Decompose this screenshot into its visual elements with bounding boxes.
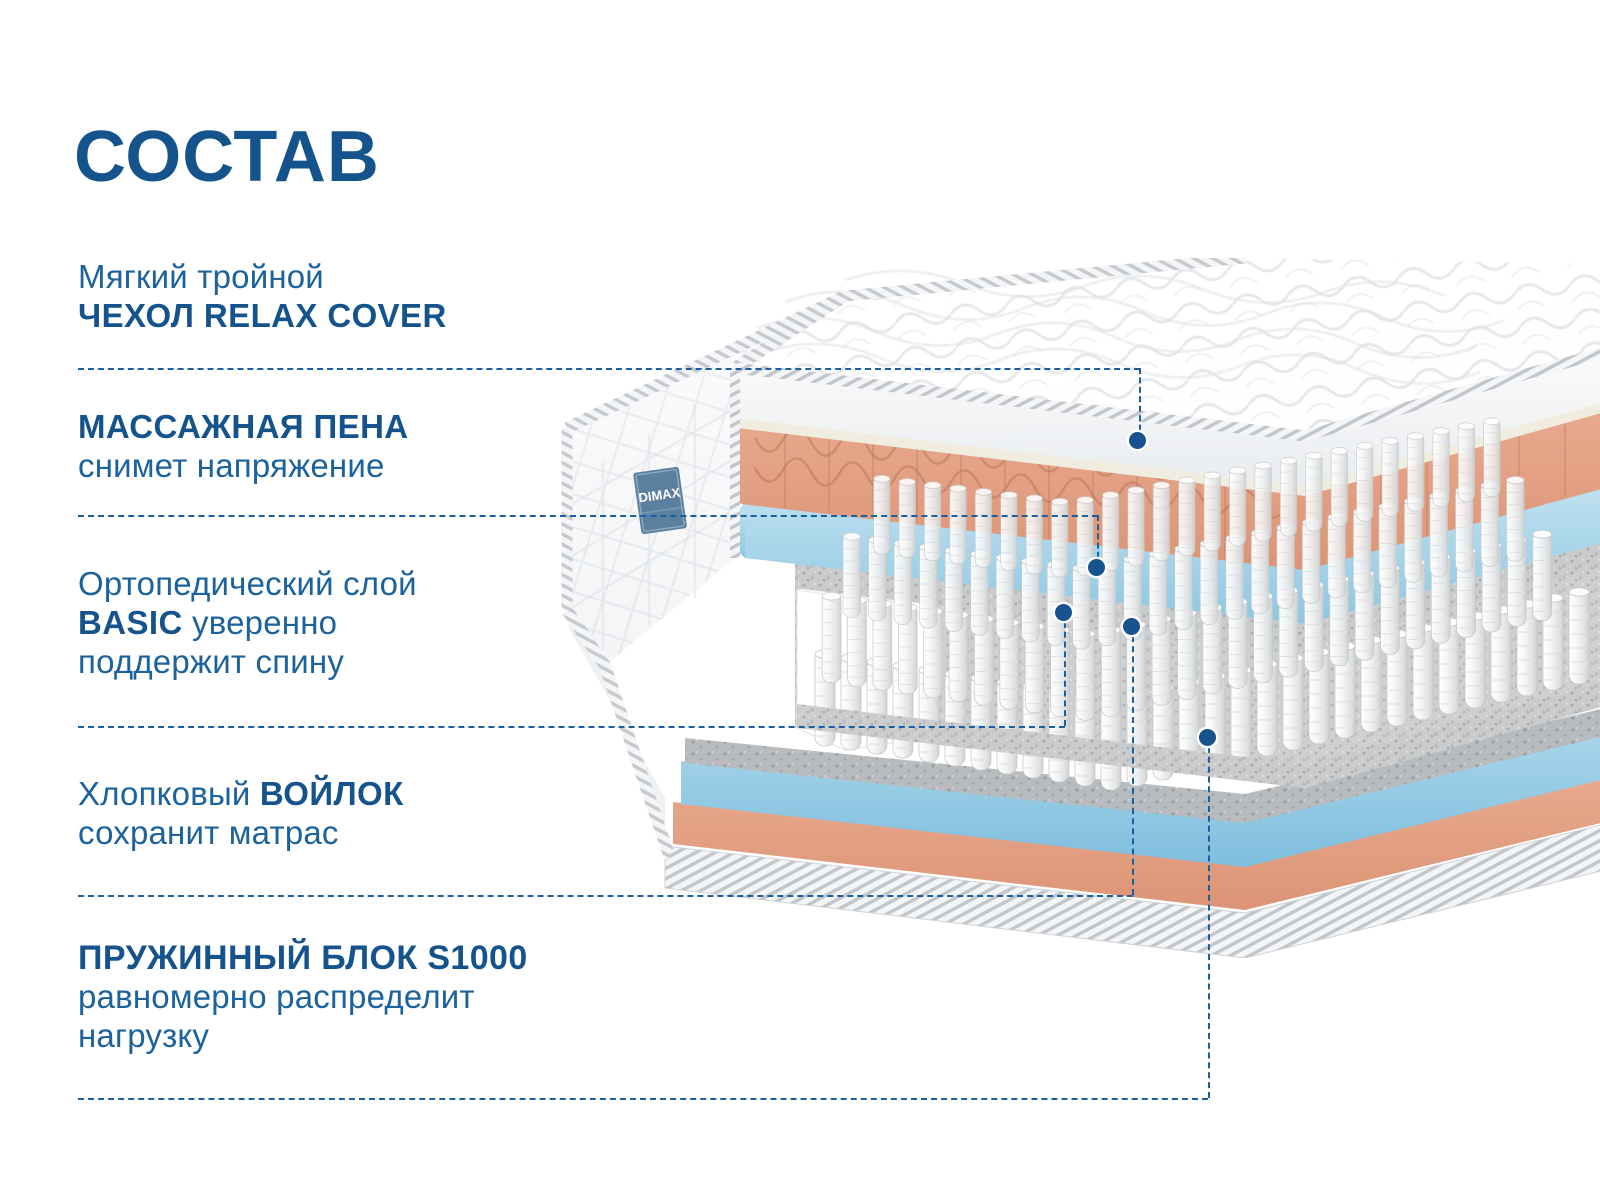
leader-line-basic-vertical: [1064, 612, 1066, 726]
feature-basic-line3: поддержит спину: [78, 643, 417, 682]
feature-foam: МАССАЖНАЯ ПЕНА снимет напряжение: [78, 408, 409, 486]
feature-felt-line1-lead: Хлопковый: [78, 775, 260, 812]
leader-line-springs-vertical: [1208, 737, 1210, 1098]
feature-springs-line2: равномерно распределит: [78, 978, 528, 1017]
feature-basic-keyword: BASIC: [78, 604, 183, 641]
mattress-cutaway-illustration: DIMAX: [545, 258, 1600, 958]
callout-dot-basic: [1055, 604, 1072, 621]
callout-dot-springs: [1199, 729, 1216, 746]
feature-basic-line2: BASIC уверенно: [78, 604, 417, 643]
feature-springs-line1: ПРУЖИННЫЙ БЛОК S1000: [78, 938, 528, 978]
infographic-canvas: СОСТАВ: [0, 0, 1600, 1200]
feature-springs: ПРУЖИННЫЙ БЛОК S1000 равномерно распреде…: [78, 938, 528, 1056]
brand-tag: DIMAX: [633, 467, 687, 535]
leader-line-cover-horizontal: [78, 368, 1140, 370]
leader-line-felt-vertical: [1132, 626, 1134, 895]
feature-cover-line1: Мягкий тройной: [78, 258, 447, 297]
feature-felt-line2: сохранит матрас: [78, 814, 404, 853]
feature-felt-keyword: ВОЙЛОК: [260, 775, 404, 812]
leader-line-felt-horizontal: [78, 895, 1133, 897]
callout-dot-felt: [1123, 618, 1140, 635]
feature-foam-line1: МАССАЖНАЯ ПЕНА: [78, 408, 409, 447]
feature-cover: Мягкий тройной ЧЕХОЛ RELAX COVER: [78, 258, 447, 336]
page-title: СОСТАВ: [74, 121, 380, 193]
leader-line-cover-vertical: [1139, 368, 1141, 440]
feature-basic: Ортопедический слой BASIC уверенно подде…: [78, 565, 417, 682]
feature-springs-line3: нагрузку: [78, 1017, 528, 1056]
leader-line-basic-horizontal: [78, 726, 1065, 728]
feature-felt: Хлопковый ВОЙЛОК сохранит матрас: [78, 775, 404, 853]
feature-cover-line2: ЧЕХОЛ RELAX COVER: [78, 297, 447, 336]
feature-basic-line2-rest: уверенно: [183, 604, 338, 641]
feature-felt-line1: Хлопковый ВОЙЛОК: [78, 775, 404, 814]
callout-dot-cover: [1129, 432, 1146, 449]
feature-basic-line1: Ортопедический слой: [78, 565, 417, 604]
leader-line-foam-horizontal: [78, 515, 1098, 517]
leader-line-springs-horizontal: [78, 1098, 1208, 1100]
callout-dot-foam: [1088, 559, 1105, 576]
feature-foam-line2: снимет напряжение: [78, 447, 409, 486]
